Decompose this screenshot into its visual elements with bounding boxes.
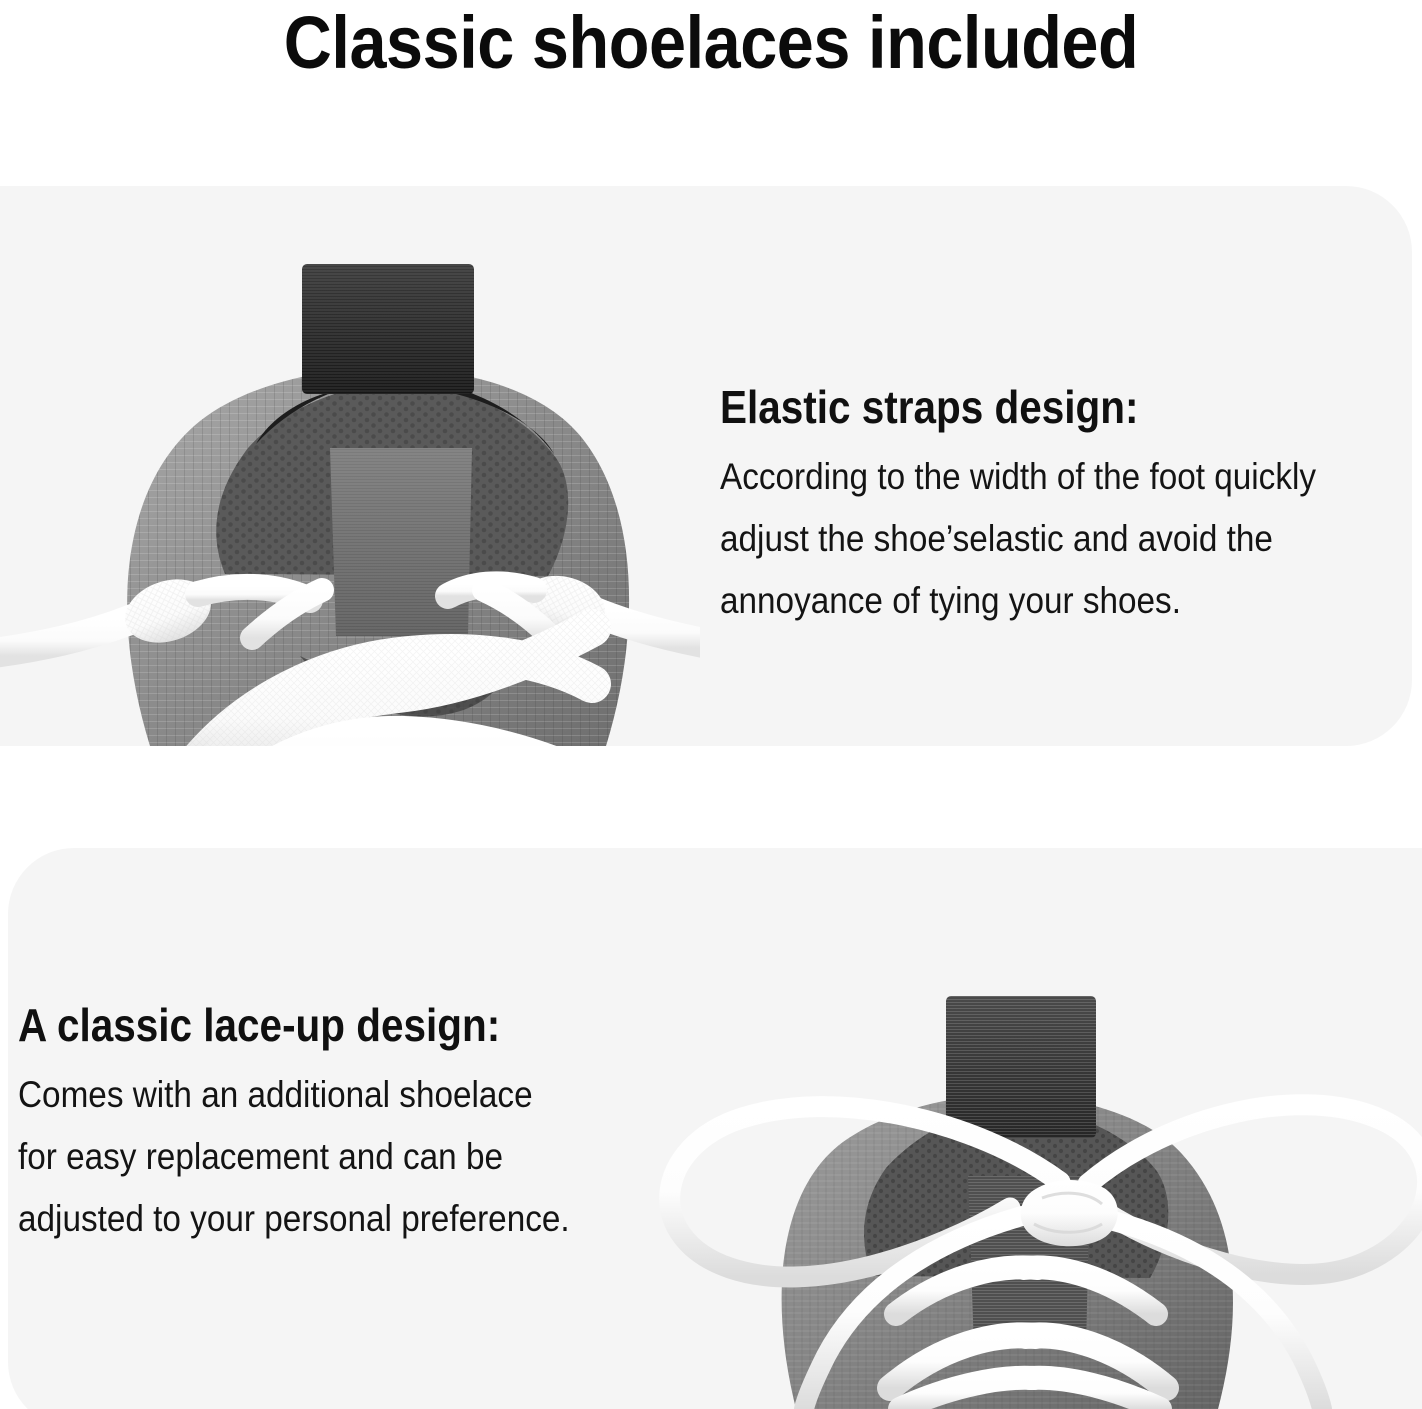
page-title: Classic shoelaces included xyxy=(71,0,1351,86)
product-feature-page: Classic shoelaces included xyxy=(0,0,1422,1409)
body-line: for easy replacement and can be xyxy=(18,1126,594,1188)
body-line: adjust the shoe’selastic and avoid the xyxy=(720,508,1350,570)
body-line: annoyance of tying your shoes. xyxy=(720,570,1350,632)
body-line: adjusted to your personal preference. xyxy=(18,1188,594,1250)
feature-heading-laceup: A classic lace-up design: xyxy=(18,996,581,1054)
feature-heading-elastic: Elastic straps design: xyxy=(720,378,1336,436)
feature-body-elastic: According to the width of the foot quick… xyxy=(720,446,1350,632)
shoe-tied-laces-photo xyxy=(590,848,1422,1409)
feature-body-laceup: Comes with an additional shoelace for ea… xyxy=(18,1064,594,1250)
body-line: According to the width of the foot quick… xyxy=(720,446,1350,508)
feature-text-elastic-straps: Elastic straps design: According to the … xyxy=(720,378,1420,632)
shoe-elastic-laces-photo xyxy=(0,186,700,746)
feature-text-classic-lace-up: A classic lace-up design: Comes with an … xyxy=(18,996,658,1250)
body-line: Comes with an additional shoelace xyxy=(18,1064,594,1126)
